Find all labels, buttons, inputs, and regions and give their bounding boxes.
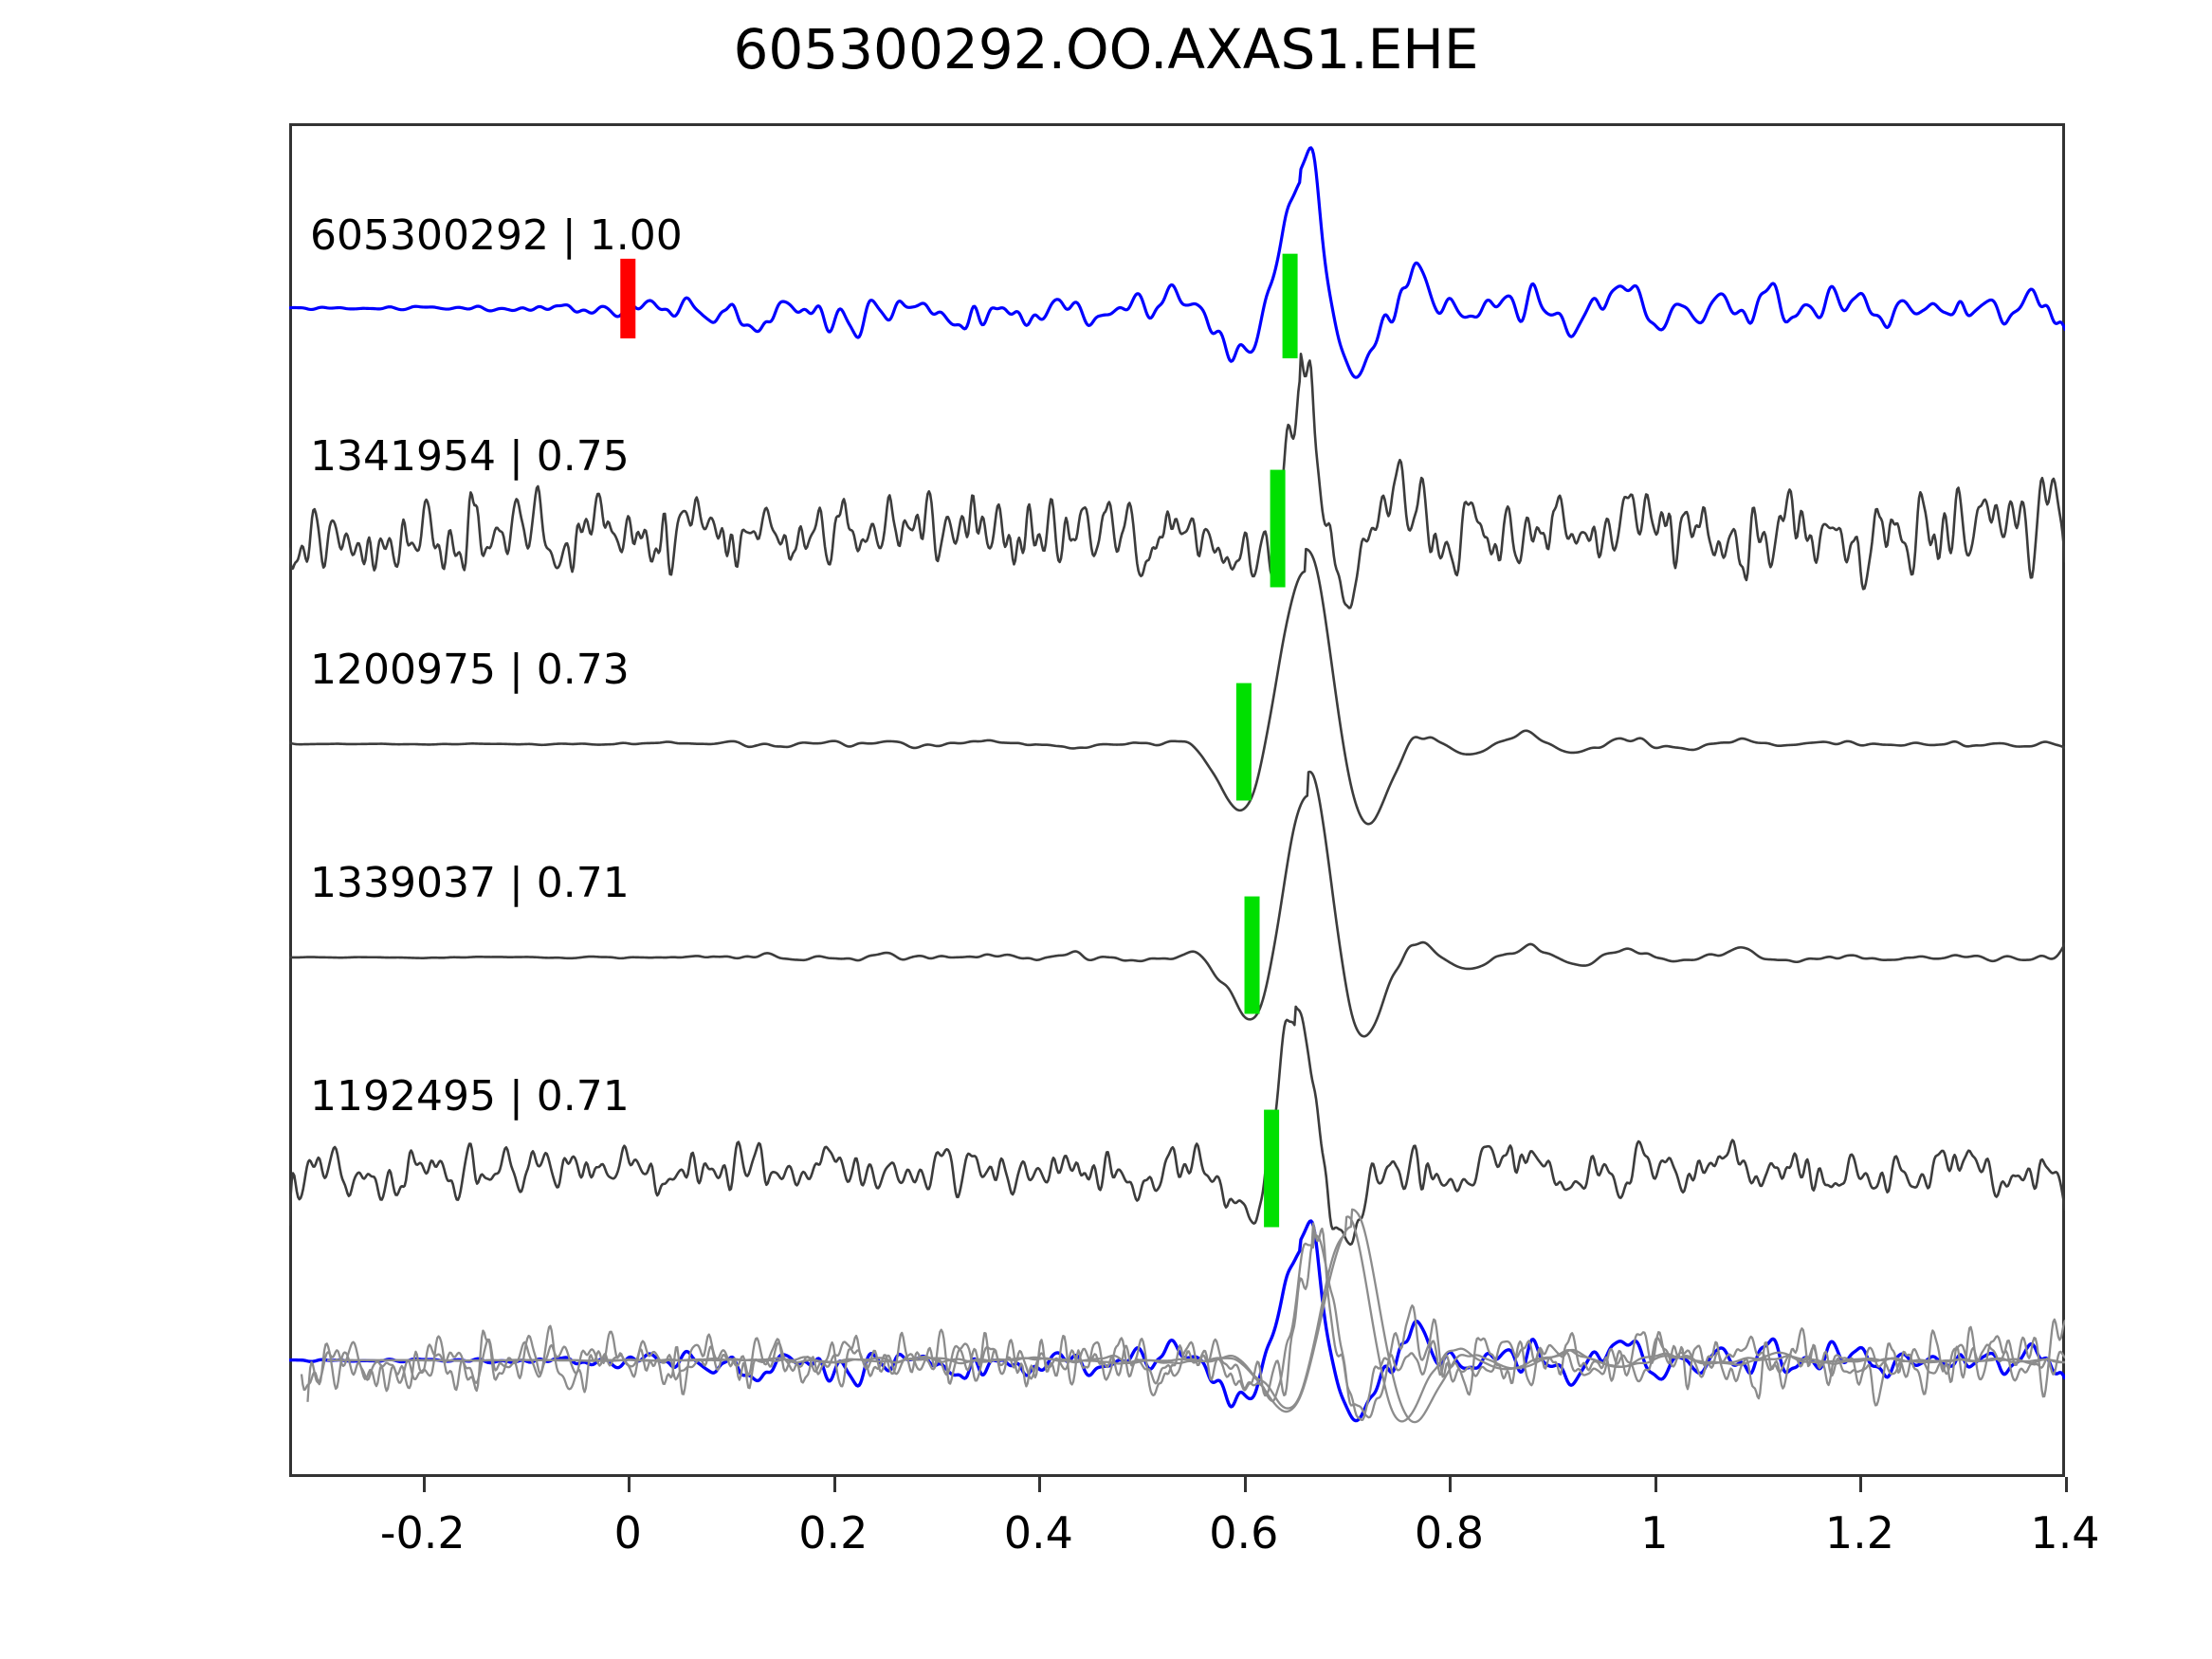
detection-pick-marker-1200975 [1236, 684, 1252, 801]
waveform-figure: 605300292.OO.AXAS1.EHE 605300292 | 1.001… [0, 0, 2212, 1659]
trace-label-1341954: 1341954 | 0.75 [310, 432, 630, 481]
page-title: 605300292.OO.AXAS1.EHE [0, 17, 2212, 82]
x-tick-label: 0.8 [1415, 1507, 1484, 1559]
waveform-canvas [289, 123, 2065, 1477]
trace-label-605300292: 605300292 | 1.00 [310, 211, 683, 260]
x-tick-label: 1.2 [1825, 1507, 1894, 1559]
x-tick-mark [2065, 1477, 2068, 1492]
detection-pick-marker-1341954 [1271, 470, 1286, 588]
reference-pick-marker [620, 259, 635, 338]
x-tick-label: 1.4 [2030, 1507, 2099, 1559]
x-tick-label: 0.2 [798, 1507, 868, 1559]
x-tick-label: 0.6 [1209, 1507, 1278, 1559]
overlay-trace-1192495 [307, 1233, 2065, 1417]
overlay-trace-605300292 [289, 1221, 2065, 1421]
detection-pick-marker-1192495 [1264, 1110, 1279, 1228]
overlay-trace-1200975 [336, 1210, 2065, 1422]
waveform-trace-1341954 [289, 354, 2065, 608]
x-tick-mark [1859, 1477, 1862, 1492]
x-tick-label: -0.2 [380, 1507, 466, 1559]
waveform-trace-605300292 [289, 148, 2065, 377]
x-tick-mark [1449, 1477, 1452, 1492]
trace-label-1192495: 1192495 | 0.71 [310, 1072, 630, 1121]
x-tick-mark [1654, 1477, 1657, 1492]
trace-label-1200975: 1200975 | 0.73 [310, 646, 630, 694]
x-tick-mark [1244, 1477, 1247, 1492]
x-tick-mark [1038, 1477, 1041, 1492]
detection-pick-marker-1339037 [1245, 897, 1260, 1014]
detection-pick-marker-605300292 [1283, 254, 1298, 358]
x-tick-mark [833, 1477, 836, 1492]
x-tick-label: 0.4 [1004, 1507, 1073, 1559]
x-tick-label: 0 [614, 1507, 642, 1559]
x-tick-label: 1 [1640, 1507, 1668, 1559]
x-tick-mark [423, 1477, 426, 1492]
waveform-trace-1192495 [289, 1007, 2065, 1245]
trace-label-1339037: 1339037 | 0.71 [310, 859, 630, 907]
x-tick-mark [628, 1477, 631, 1492]
overlay-trace-1339037 [327, 1216, 2065, 1421]
overlay-trace-1341954 [302, 1224, 2065, 1420]
